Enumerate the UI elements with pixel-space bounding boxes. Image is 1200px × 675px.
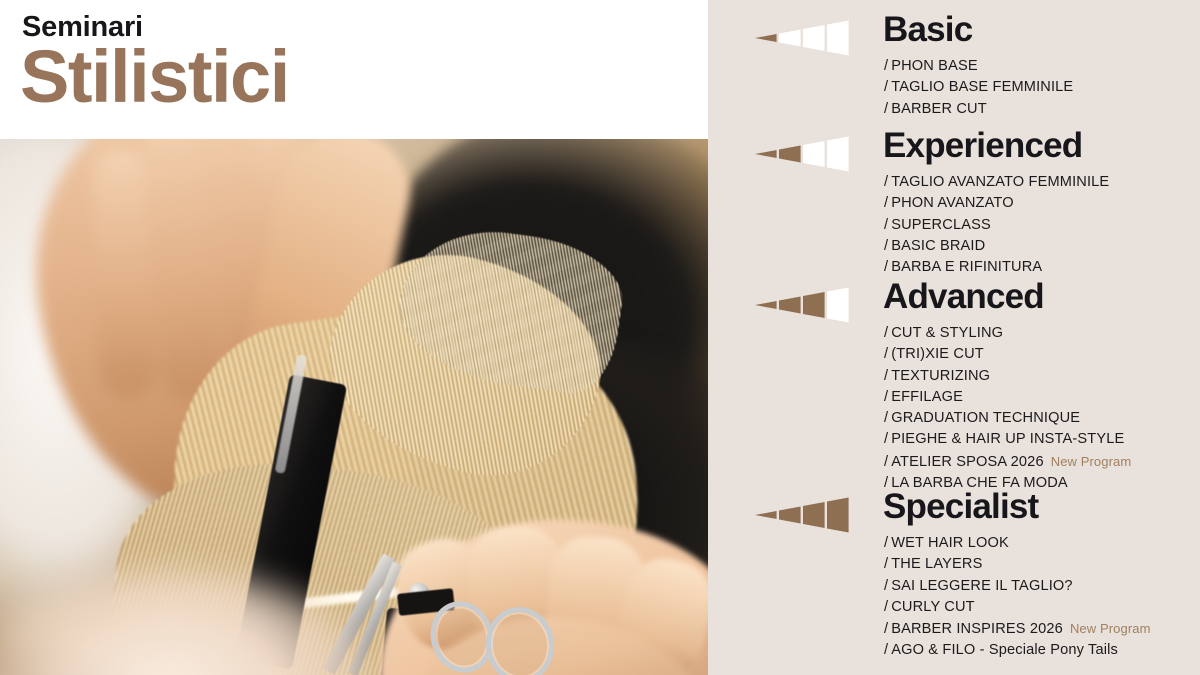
course-label: THE LAYERS — [891, 556, 982, 572]
arrow-segment — [827, 136, 849, 171]
seminar-poster: Seminari Stilistici Basic/PHON BASE/TAGL… — [0, 0, 1200, 675]
slash-icon: / — [884, 621, 888, 637]
arrow-segment — [779, 296, 801, 313]
slash-icon: / — [884, 238, 888, 254]
arrow-segment — [779, 145, 801, 162]
course-label: TEXTURIZING — [891, 368, 990, 384]
left-arrow-segments-icon — [755, 136, 851, 172]
course-item[interactable]: /BASIC BRAID — [884, 236, 1109, 257]
course-label: BARBA E RIFINITURA — [891, 259, 1042, 275]
slash-icon: / — [884, 217, 888, 233]
arrow-segment — [755, 511, 777, 519]
course-item[interactable]: /PIEGHE & HAIR UP INSTA-STYLE — [884, 429, 1131, 450]
course-label: (TRI)XIE CUT — [891, 346, 984, 362]
slash-icon: / — [884, 325, 888, 341]
course-item[interactable]: /CUT & STYLING — [884, 323, 1131, 344]
course-list: /TAGLIO AVANZATO FEMMINILE/PHON AVANZATO… — [884, 172, 1109, 278]
course-item[interactable]: /(TRI)XIE CUT — [884, 344, 1131, 365]
course-label: TAGLIO AVANZATO FEMMINILE — [891, 174, 1109, 190]
arrow-segment — [803, 502, 825, 528]
course-label: PHON AVANZATO — [891, 195, 1014, 211]
slash-icon: / — [884, 368, 888, 384]
course-item[interactable]: /PHON BASE — [884, 56, 1073, 77]
new-program-badge: New Program — [1070, 621, 1151, 636]
course-label: BASIC BRAID — [891, 238, 985, 254]
course-item[interactable]: /CURLY CUT — [884, 597, 1151, 618]
course-item[interactable]: /EFFILAGE — [884, 387, 1131, 408]
slash-icon: / — [884, 101, 888, 117]
course-label: CUT & STYLING — [891, 325, 1003, 341]
course-label: AGO & FILO - Speciale Pony Tails — [891, 642, 1118, 658]
course-label: SAI LEGGERE IL TAGLIO? — [891, 578, 1072, 594]
course-item[interactable]: /TEXTURIZING — [884, 366, 1131, 387]
arrow-segment — [827, 20, 849, 55]
course-item[interactable]: /AGO & FILO - Speciale Pony Tails — [884, 640, 1151, 661]
arrow-segment — [803, 292, 825, 318]
left-arrow-segments-icon — [755, 20, 851, 56]
course-label: BARBER INSPIRES 2026 — [891, 621, 1063, 637]
arrow-segment — [755, 34, 777, 42]
level-title: Basic — [883, 8, 972, 52]
left-arrow-segments-icon — [755, 497, 851, 533]
course-label: GRADUATION TECHNIQUE — [891, 410, 1080, 426]
course-list: /WET HAIR LOOK/THE LAYERS/SAI LEGGERE IL… — [884, 533, 1151, 662]
salon-photo — [0, 139, 708, 675]
course-item[interactable]: /GRADUATION TECHNIQUE — [884, 408, 1131, 429]
course-item[interactable]: /TAGLIO BASE FEMMINILE — [884, 77, 1073, 98]
course-label: PIEGHE & HAIR UP INSTA-STYLE — [891, 431, 1124, 447]
course-label: BARBER CUT — [891, 101, 987, 117]
course-item[interactable]: /BARBER CUT — [884, 99, 1073, 120]
levels-panel: Basic/PHON BASE/TAGLIO BASE FEMMINILE/BA… — [708, 0, 1200, 675]
slash-icon: / — [884, 410, 888, 426]
slash-icon: / — [884, 346, 888, 362]
arrow-segment — [827, 287, 849, 322]
arrow-segment — [803, 141, 825, 167]
course-label: WET HAIR LOOK — [891, 535, 1009, 551]
course-list: /CUT & STYLING/(TRI)XIE CUT/TEXTURIZING/… — [884, 323, 1131, 494]
left-arrow-segments-icon — [755, 287, 851, 323]
course-label: CURLY CUT — [891, 599, 975, 615]
slash-icon: / — [884, 195, 888, 211]
course-item[interactable]: /ATELIER SPOSA 2026New Program — [884, 451, 1131, 473]
arrow-segment — [755, 301, 777, 309]
level-title: Advanced — [883, 275, 1044, 319]
course-item[interactable]: /TAGLIO AVANZATO FEMMINILE — [884, 172, 1109, 193]
title-block: Seminari Stilistici — [0, 0, 708, 139]
slash-icon: / — [884, 79, 888, 95]
arrow-segment — [803, 25, 825, 51]
course-label: EFFILAGE — [891, 389, 963, 405]
course-label: ATELIER SPOSA 2026 — [891, 454, 1044, 470]
level-title: Specialist — [883, 485, 1038, 529]
arrow-segment — [827, 497, 849, 532]
course-list: /PHON BASE/TAGLIO BASE FEMMINILE/BARBER … — [884, 56, 1073, 120]
slash-icon: / — [884, 259, 888, 275]
course-label: PHON BASE — [891, 58, 978, 74]
slash-icon: / — [884, 642, 888, 658]
arrow-segment — [779, 29, 801, 46]
course-item[interactable]: /PHON AVANZATO — [884, 193, 1109, 214]
slash-icon: / — [884, 431, 888, 447]
course-label: TAGLIO BASE FEMMINILE — [891, 79, 1073, 95]
slash-icon: / — [884, 58, 888, 74]
slash-icon: / — [884, 556, 888, 572]
left-column: Seminari Stilistici — [0, 0, 708, 675]
slash-icon: / — [884, 389, 888, 405]
course-item[interactable]: /WET HAIR LOOK — [884, 533, 1151, 554]
slash-icon: / — [884, 174, 888, 190]
course-label: SUPERCLASS — [891, 217, 991, 233]
slash-icon: / — [884, 578, 888, 594]
course-item[interactable]: /SUPERCLASS — [884, 215, 1109, 236]
arrow-segment — [755, 150, 777, 158]
course-item[interactable]: /THE LAYERS — [884, 554, 1151, 575]
slash-icon: / — [884, 535, 888, 551]
slash-icon: / — [884, 454, 888, 470]
arrow-segment — [779, 506, 801, 523]
course-item[interactable]: /SAI LEGGERE IL TAGLIO? — [884, 576, 1151, 597]
course-item[interactable]: /BARBER INSPIRES 2026New Program — [884, 618, 1151, 640]
slash-icon: / — [884, 599, 888, 615]
level-title: Experienced — [883, 124, 1082, 168]
page-title: Stilistici — [20, 40, 289, 114]
new-program-badge: New Program — [1051, 454, 1132, 469]
